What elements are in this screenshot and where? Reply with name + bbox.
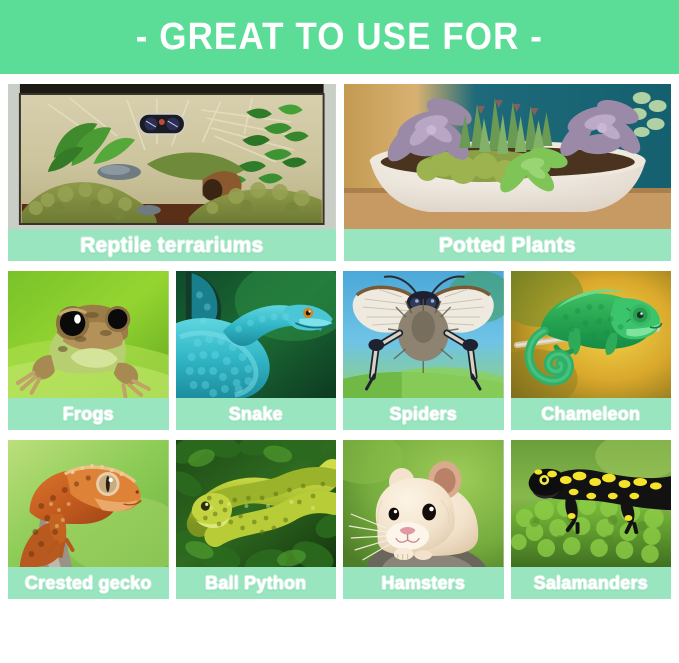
caption-label: Frogs [63,405,114,423]
caption-label: Reptile terrariums [80,235,263,256]
tile-frogs[interactable]: Frogs [8,271,169,430]
header-banner: - GREAT TO USE FOR - [0,0,679,74]
tile-caption: Frogs [8,398,169,430]
caption-label: Chameleon [541,405,640,423]
tile-ball-python[interactable]: Ball Python [176,440,337,599]
tile-caption: Salamanders [511,567,672,599]
salamander-photo [511,440,672,567]
caption-label: Potted Plants [439,235,576,256]
grid-row-square: Crested gecko [8,440,671,599]
tile-caption: Chameleon [511,398,672,430]
caption-label: Snake [229,405,283,423]
grid-row-square: Frogs [8,271,671,430]
frog-photo [8,271,169,398]
tile-hamsters[interactable]: Hamsters [343,440,504,599]
tile-salamanders[interactable]: Salamanders [511,440,672,599]
tile-caption: Hamsters [343,567,504,599]
caption-label: Spiders [390,405,457,423]
potted-plants-photo [344,84,672,229]
caption-label: Crested gecko [25,574,152,592]
tile-spiders[interactable]: Spiders [343,271,504,430]
tile-potted-plants[interactable]: Potted Plants [344,84,672,261]
grid-row-wide: Reptile terrariums [8,84,671,261]
page-title: - GREAT TO USE FOR - [136,18,543,56]
crested-gecko-photo [8,440,169,567]
ball-python-photo [176,440,337,567]
tile-reptile-terrariums[interactable]: Reptile terrariums [8,84,336,261]
caption-label: Hamsters [381,574,465,592]
use-case-grid: Reptile terrariums [0,74,679,607]
hamster-photo [343,440,504,567]
tile-snake[interactable]: Snake [176,271,337,430]
reptile-terrarium-photo [8,84,336,229]
chameleon-photo [511,271,672,398]
snake-photo [176,271,337,398]
tile-caption: Snake [176,398,337,430]
tile-caption: Crested gecko [8,567,169,599]
caption-label: Ball Python [205,574,306,592]
spider-photo [343,271,504,398]
tile-caption: Spiders [343,398,504,430]
tile-caption: Potted Plants [344,229,672,261]
tile-caption: Reptile terrariums [8,229,336,261]
tile-crested-gecko[interactable]: Crested gecko [8,440,169,599]
tile-caption: Ball Python [176,567,337,599]
tile-chameleon[interactable]: Chameleon [511,271,672,430]
caption-label: Salamanders [534,574,648,592]
